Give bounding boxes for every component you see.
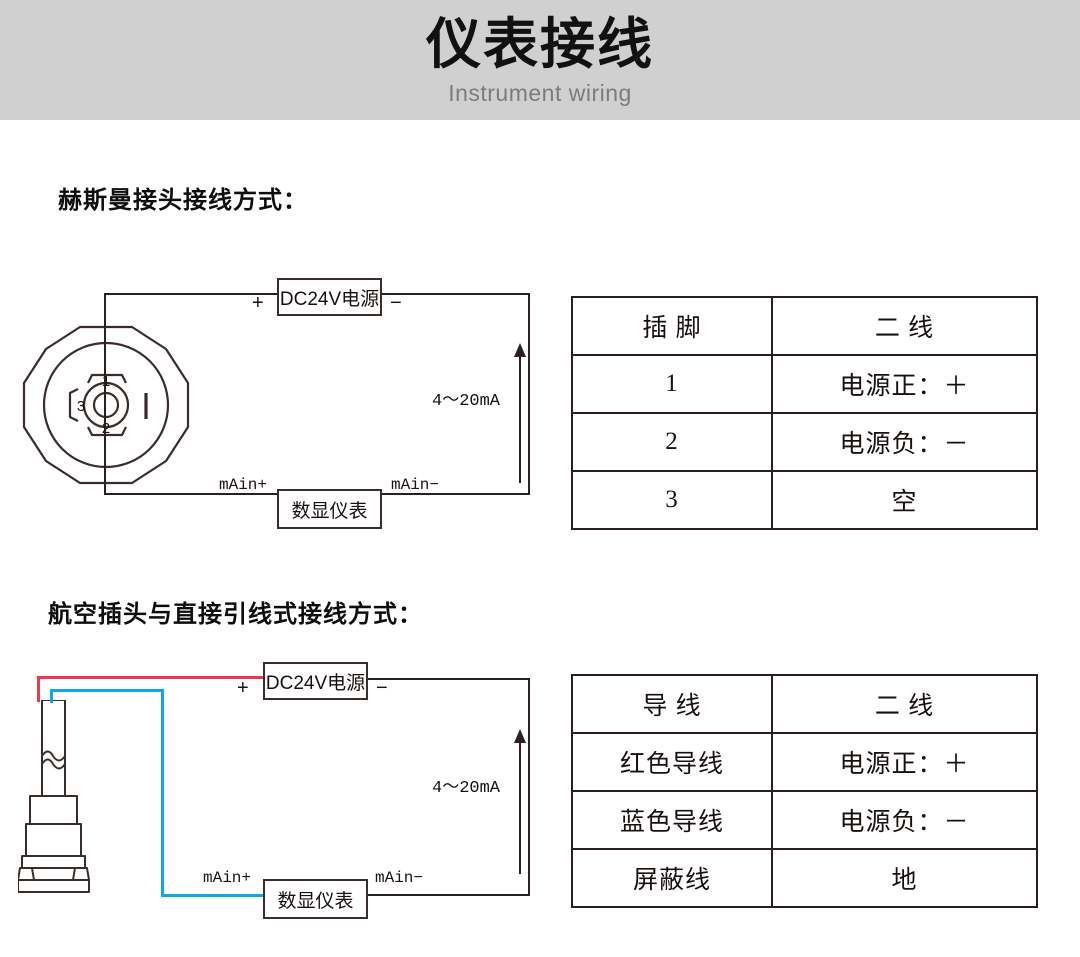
table2-r2-c0: 屏蔽线: [572, 849, 772, 907]
table2-r2-c1: 地: [772, 849, 1037, 907]
circuit2-meter-box: 数显仪表: [263, 879, 368, 919]
circuit1-current-label: 4～20mA: [432, 385, 500, 411]
blue-wire-vertical-right: [161, 689, 164, 897]
table1-r0-c0: 1: [572, 355, 772, 413]
table1-r0-c1: 电源正：＋: [772, 355, 1037, 413]
section-heading-hirschmann: 赫斯曼接头接线方式：: [58, 180, 308, 215]
blue-wire-horizontal-top: [50, 689, 164, 692]
section-heading-aviation-plug: 航空插头与直接引线式接线方式：: [48, 594, 423, 629]
table-row: 3 空: [572, 471, 1037, 529]
circuit2-bottom-right-wire: [364, 894, 530, 896]
circuit2-current-label: 4～20mA: [432, 772, 500, 798]
circuit2-power-supply-box: DC24V电源: [263, 662, 368, 700]
table2-r1-c0: 蓝色导线: [572, 791, 772, 849]
circuit2-right-vertical-wire: [528, 678, 530, 896]
circuit1-power-supply-box: DC24V电源: [277, 278, 382, 316]
circuit2-power-minus-label: −: [376, 677, 388, 700]
connector-pin-3-label: 3: [77, 398, 85, 415]
table-row: 2 电源负：－: [572, 413, 1037, 471]
circuit1-power-plus-label: +: [252, 292, 264, 315]
blue-wire-horizontal-bottom: [161, 894, 263, 897]
table2-header-wire: 导 线: [572, 675, 772, 733]
circuit2-current-arrow: [514, 729, 526, 874]
red-wire-horizontal: [37, 676, 263, 679]
table1-r1-c0: 2: [572, 413, 772, 471]
circuit1-main-plus-label: mAin+: [219, 476, 267, 494]
table1-header-pin: 插 脚: [572, 297, 772, 355]
table2-r0-c1: 电源正：＋: [772, 733, 1037, 791]
table1-header-wire: 二 线: [772, 297, 1037, 355]
circuit1-meter-box: 数显仪表: [277, 489, 382, 529]
cable-lead-probe-diagram: [18, 700, 104, 900]
circuit2-top-right-wire: [364, 678, 530, 680]
table2-r1-c1: 电源负：－: [772, 791, 1037, 849]
circuit2-power-plus-label: +: [237, 677, 249, 700]
hirschmann-connector-diagram: 1 2 3: [18, 325, 194, 485]
circuit1-current-arrow: [514, 343, 526, 483]
circuit2-main-plus-label: mAin+: [203, 869, 251, 887]
page-subtitle: Instrument wiring: [0, 80, 1080, 107]
table-header-row: 插 脚 二 线: [572, 297, 1037, 355]
circuit1-right-vertical-wire: [528, 293, 530, 495]
pin-assignment-table: 插 脚 二 线 1 电源正：＋ 2 电源负：－ 3 空: [571, 296, 1038, 530]
table2-r0-c0: 红色导线: [572, 733, 772, 791]
table2-header-twowire: 二 线: [772, 675, 1037, 733]
circuit1-main-minus-label: mAin−: [391, 476, 439, 494]
page-title: 仪表接线: [0, 14, 1080, 75]
circuit1-power-minus-label: −: [390, 292, 402, 315]
table1-r2-c0: 3: [572, 471, 772, 529]
table1-r1-c1: 电源负：－: [772, 413, 1037, 471]
circuit2-main-minus-label: mAin−: [375, 869, 423, 887]
wire-colour-table: 导 线 二 线 红色导线 电源正：＋ 蓝色导线 电源负：－ 屏蔽线 地: [571, 674, 1038, 908]
table-row: 红色导线 电源正：＋: [572, 733, 1037, 791]
table-header-row: 导 线 二 线: [572, 675, 1037, 733]
circuit1-connector-vertical-wire: [104, 293, 106, 495]
table1-r2-c1: 空: [772, 471, 1037, 529]
table-row: 蓝色导线 电源负：－: [572, 791, 1037, 849]
red-wire-vertical: [37, 676, 40, 702]
table-row: 1 电源正：＋: [572, 355, 1037, 413]
table-row: 屏蔽线 地: [572, 849, 1037, 907]
